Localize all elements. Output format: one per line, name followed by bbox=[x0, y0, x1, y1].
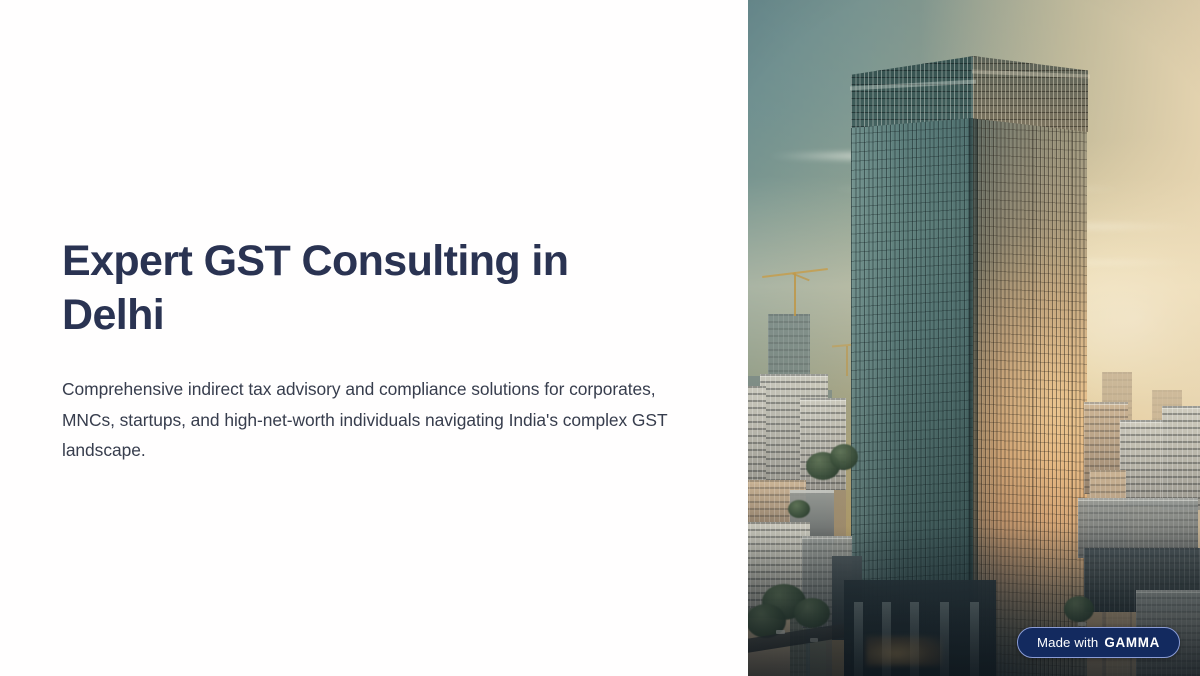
badge-prefix-label: Made with bbox=[1037, 635, 1098, 650]
text-panel: Expert GST Consulting in Delhi Comprehen… bbox=[0, 0, 748, 676]
page-title: Expert GST Consulting in Delhi bbox=[62, 234, 622, 342]
image-vignette bbox=[748, 0, 1200, 676]
slide-canvas: Expert GST Consulting in Delhi Comprehen… bbox=[0, 0, 1200, 676]
made-with-gamma-badge[interactable]: Made with GAMMA bbox=[1017, 627, 1180, 658]
badge-brand-label: GAMMA bbox=[1104, 635, 1160, 650]
subtitle-paragraph: Comprehensive indirect tax advisory and … bbox=[62, 374, 670, 466]
hero-image: Made with GAMMA bbox=[748, 0, 1200, 676]
